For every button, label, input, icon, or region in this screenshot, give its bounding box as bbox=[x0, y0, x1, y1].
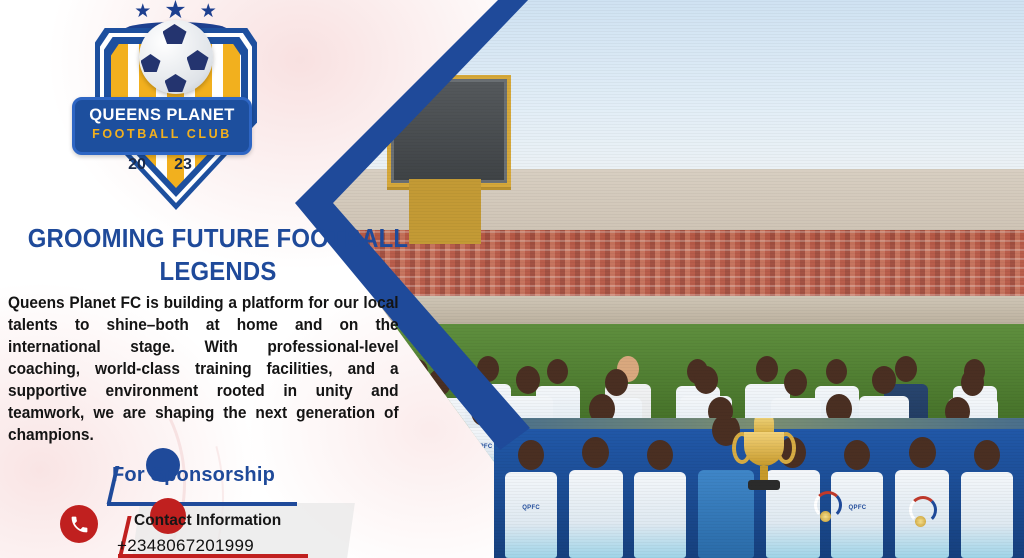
page-title: GROOMING FUTURE FOOTBALL LEGENDS bbox=[25, 222, 411, 289]
club-logo: ★ ★ ★ QUEENS PLANET FOOTBALL CLUB 20 23 bbox=[78, 2, 273, 214]
soccer-ball-icon bbox=[139, 20, 213, 94]
sponsorship-contact-block: For Sponsorship Contact Information +234… bbox=[60, 448, 360, 558]
star-icon: ★ bbox=[200, 2, 217, 21]
logo-club-name: QUEENS PLANET bbox=[75, 106, 249, 125]
logo-club-subtitle: FOOTBALL CLUB bbox=[75, 127, 249, 141]
star-icon: ★ bbox=[134, 2, 151, 21]
trophy-photo: QPFC QPFC bbox=[494, 418, 1024, 558]
contact-label: Contact Information bbox=[134, 512, 281, 530]
trophy-icon bbox=[738, 418, 790, 518]
person-figure bbox=[569, 437, 623, 558]
person-figure: QPFC bbox=[505, 440, 557, 558]
poster-canvas: QPFC QPFC QPFC QPFC QPFC QPFC bbox=[0, 0, 1024, 558]
logo-year-right: 23 bbox=[166, 152, 200, 178]
medal-icon bbox=[812, 491, 838, 521]
trophy-base bbox=[748, 480, 780, 490]
phone-icon[interactable] bbox=[60, 505, 98, 543]
body-paragraph: Queens Planet FC is building a platform … bbox=[8, 292, 399, 446]
scoreboard bbox=[387, 75, 511, 186]
person-figure bbox=[961, 440, 1013, 558]
trophy-cup bbox=[744, 432, 784, 466]
trophy-scene: QPFC QPFC bbox=[494, 418, 1024, 558]
person-figure bbox=[634, 440, 686, 558]
medal-icon bbox=[907, 496, 933, 526]
logo-name-banner: QUEENS PLANET FOOTBALL CLUB bbox=[72, 97, 252, 155]
phone-number[interactable]: +2348067201999 bbox=[117, 536, 254, 556]
sponsorship-heading: For Sponsorship bbox=[112, 464, 275, 487]
logo-year-left: 20 bbox=[120, 152, 154, 178]
